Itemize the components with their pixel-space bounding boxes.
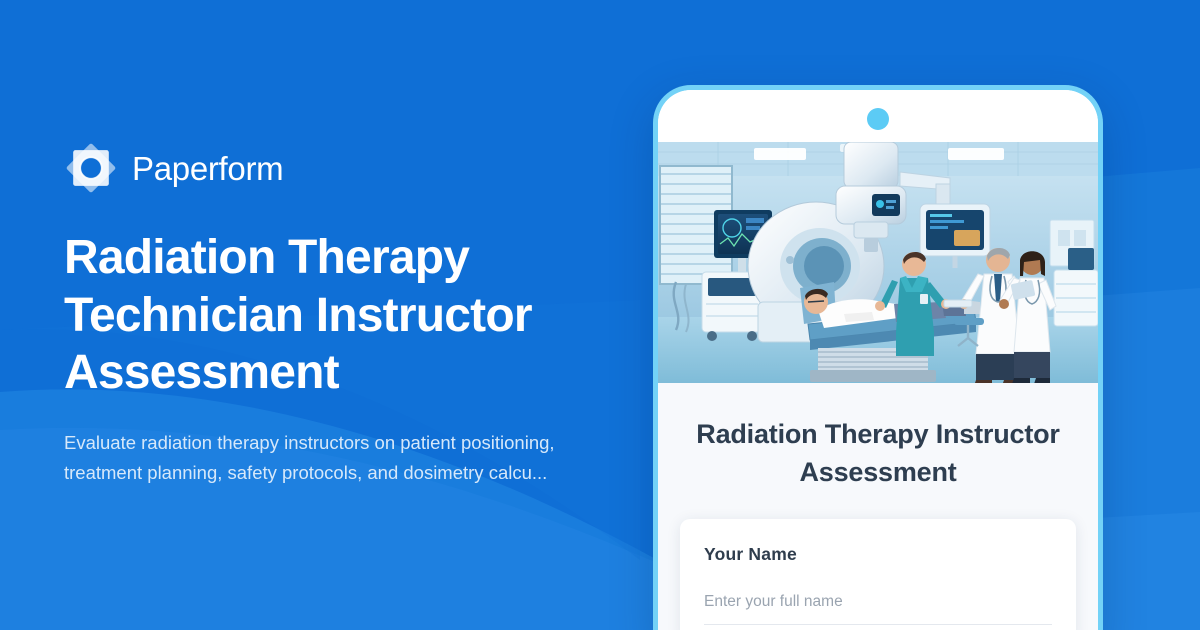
page-title: Radiation Therapy Technician Instructor … [64, 229, 594, 402]
form-title: Radiation Therapy Instructor Assessment [658, 383, 1098, 492]
phone-top-bar [658, 90, 1098, 142]
brand-name: Paperform [132, 152, 283, 185]
phone-screen: Radiation Therapy Instructor Assessment … [658, 90, 1098, 630]
form-hero-image [658, 142, 1098, 383]
form-field-card: Your Name Enter your full name [680, 519, 1076, 630]
phone-mockup: Radiation Therapy Instructor Assessment … [653, 85, 1103, 630]
hero-content: Paperform Radiation Therapy Technician I… [64, 0, 624, 630]
your-name-input[interactable]: Enter your full name [704, 593, 1052, 625]
brand-lockup: Paperform [64, 141, 624, 195]
camera-dot-icon [867, 108, 889, 130]
paperform-rosette-icon [64, 141, 118, 195]
field-label-your-name: Your Name [704, 544, 1052, 565]
page-description: Evaluate radiation therapy instructors o… [64, 428, 559, 489]
